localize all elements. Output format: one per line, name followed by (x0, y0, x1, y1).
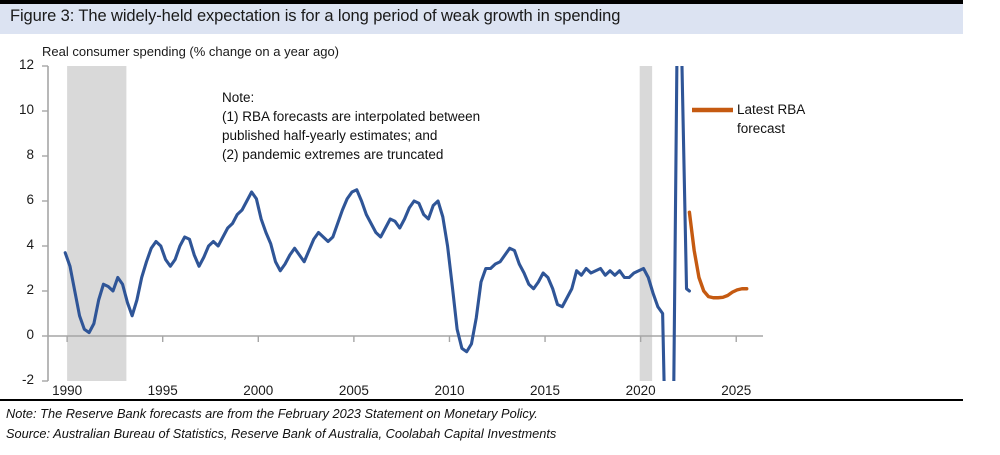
x-axis-tick-label: 2010 (426, 383, 472, 398)
x-axis-tick-label: 2015 (522, 383, 568, 398)
bottom-rule (0, 399, 963, 401)
y-axis-tick-label: 6 (6, 192, 34, 207)
y-axis-tick-label: 4 (6, 237, 34, 252)
chart-note-annotation: Note: (1) RBA forecasts are interpolated… (222, 88, 480, 164)
x-axis-tick-label: 2005 (331, 383, 377, 398)
series-forecast-line (689, 212, 746, 298)
y-axis-tick-label: 8 (6, 147, 34, 162)
y-axis-tick-label: 2 (6, 282, 34, 297)
y-axis-tick-label: 0 (6, 327, 34, 342)
footnote-note: Note: The Reserve Bank forecasts are fro… (6, 406, 538, 421)
y-axis-tick-label: 10 (6, 102, 34, 117)
shaded-band (640, 66, 652, 381)
x-axis-tick-label: 1995 (140, 383, 186, 398)
x-axis-tick-label: 2020 (618, 383, 664, 398)
shaded-band (67, 66, 126, 381)
y-axis-tick-label: 12 (6, 57, 34, 72)
y-axis-tick-label: -2 (6, 372, 34, 387)
x-axis-tick-label: 1990 (44, 383, 90, 398)
x-axis-tick-label: 2025 (713, 383, 759, 398)
x-axis-tick-label: 2000 (235, 383, 281, 398)
footnote-source: Source: Australian Bureau of Statistics,… (6, 426, 556, 441)
legend-label-forecast: Latest RBA forecast (737, 100, 847, 138)
